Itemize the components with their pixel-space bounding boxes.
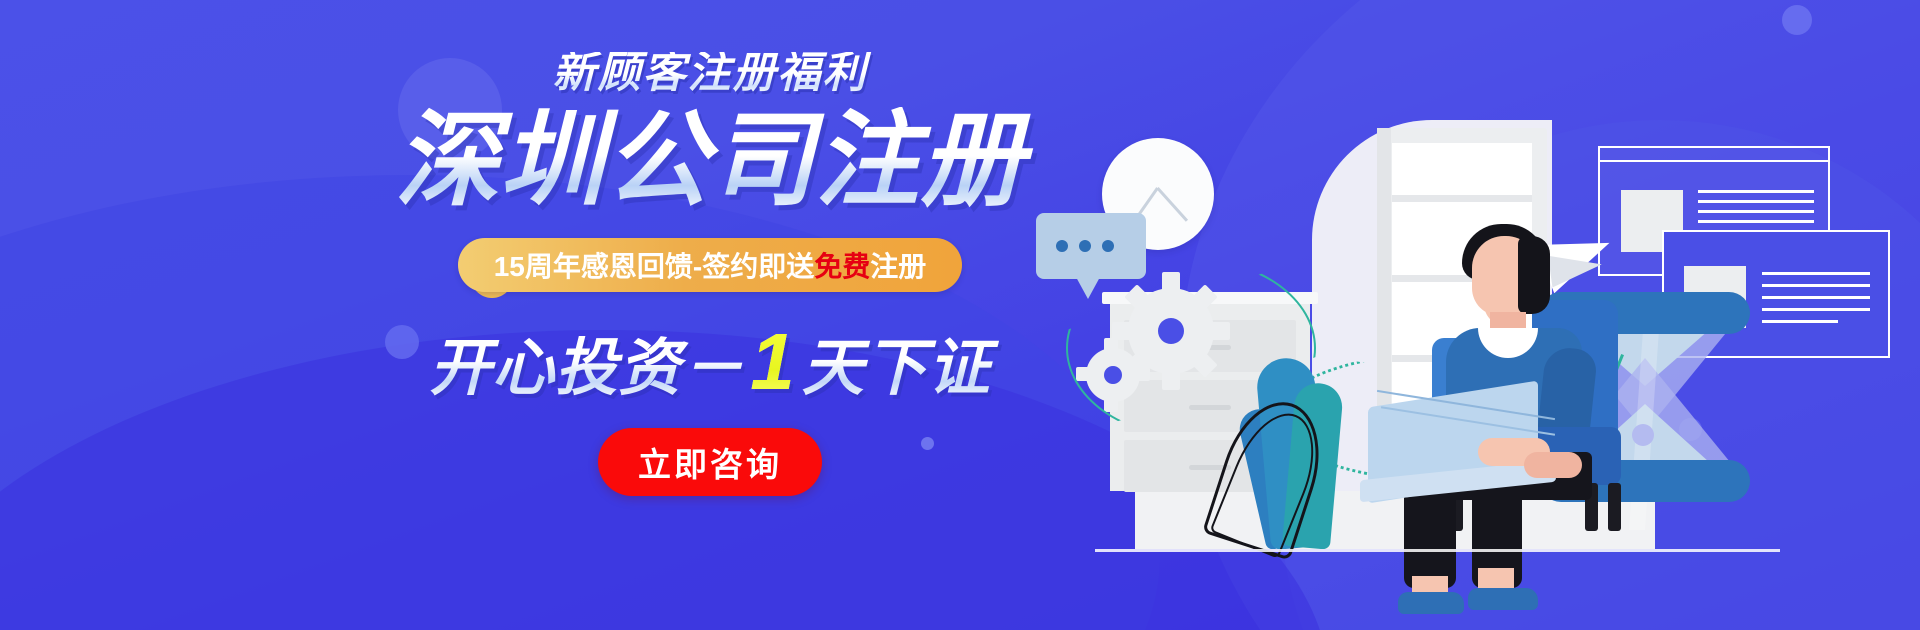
document-line — [1698, 190, 1814, 193]
page-title: 深圳公司注册 — [330, 107, 1090, 216]
illustration — [1080, 0, 1920, 630]
document-card-1-titlebar — [1600, 148, 1828, 162]
eyebrow-text: 新顾客注册福利 — [330, 52, 1090, 95]
document-line — [1698, 210, 1814, 213]
document-line — [1762, 284, 1870, 287]
document-line — [1698, 200, 1814, 203]
promo-banner: 新顾客注册福利 深圳公司注册 15周年感恩回馈-签约即送 免费 注册 开心投资－… — [0, 0, 1920, 630]
chat-dot-3 — [1102, 240, 1114, 252]
document-line — [1762, 272, 1870, 275]
consult-now-button[interactable]: 立即咨询 — [598, 428, 822, 496]
document-line — [1762, 296, 1870, 299]
chat-bubble-tail — [1076, 277, 1100, 299]
armchair-leg — [1608, 483, 1621, 531]
paper-plane-shadow — [1548, 249, 1604, 288]
door-rail-1 — [1392, 195, 1532, 202]
promo-suffix: 注册 — [870, 245, 926, 285]
promo-highlight: 免费 — [814, 245, 870, 285]
document-line — [1762, 308, 1870, 311]
tagline-before: 开心投资－ — [429, 338, 744, 400]
person-hair-side — [1518, 236, 1550, 314]
chat-bubble-icon — [1036, 213, 1146, 279]
promo-prefix: 15周年感恩回馈-签约即送 — [494, 245, 814, 285]
potted-plant — [1245, 348, 1355, 548]
hourglass-neck — [1632, 424, 1654, 446]
ground-line — [1095, 549, 1780, 552]
tagline: 开心投资－ 1 天下证 — [330, 322, 1090, 402]
person-shoe-left — [1398, 592, 1464, 614]
document-line — [1762, 320, 1838, 323]
person-shoe-right — [1468, 588, 1538, 610]
banner-copy: 新顾客注册福利 深圳公司注册 15周年感恩回馈-签约即送 免费 注册 开心投资－… — [330, 52, 1090, 496]
person-hand-right — [1524, 452, 1582, 478]
tagline-after: 天下证 — [802, 338, 991, 400]
gear-tooth — [1162, 272, 1180, 292]
document-line — [1698, 220, 1814, 223]
promo-badge: 15周年感恩回馈-签约即送 免费 注册 — [458, 238, 963, 292]
tagline-number: 1 — [744, 322, 802, 402]
chat-dot-2 — [1079, 240, 1091, 252]
chat-dot-1 — [1056, 240, 1068, 252]
cabinet-handle-2 — [1189, 405, 1231, 410]
